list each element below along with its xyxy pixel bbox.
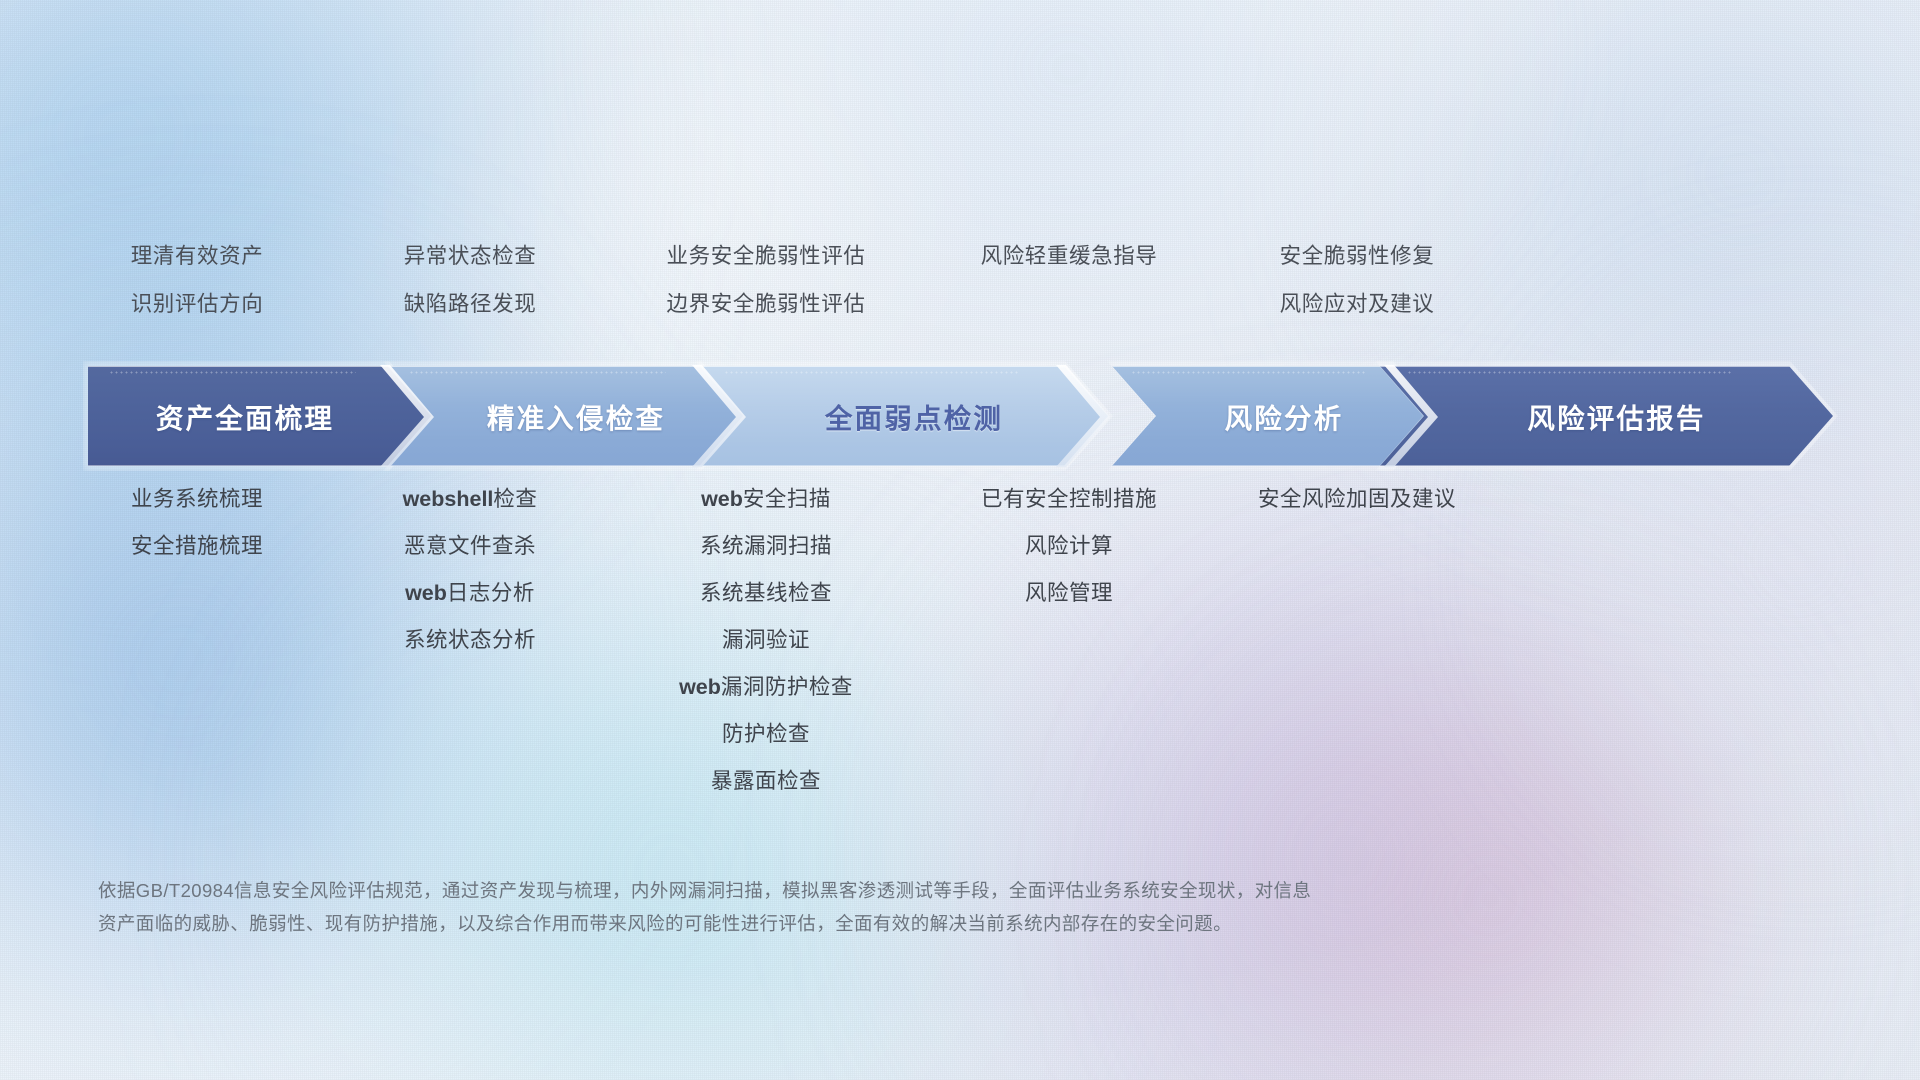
- bottom-item: 风险计算: [839, 523, 1299, 570]
- top-notes-row: 理清有效资产识别评估方向异常状态检查缺陷路径发现业务安全脆弱性评估边界安全脆弱性…: [0, 232, 1920, 342]
- stage-arrow-asset-inventory[interactable]: 资产全面梳理: [88, 366, 432, 466]
- top-note-item: 边界安全脆弱性评估: [536, 280, 996, 328]
- bottom-item: 漏洞验证: [536, 617, 996, 664]
- stage-arrow-banner: 资产全面梳理精准入侵检查全面弱点检测风险分析风险评估报告: [88, 366, 1833, 466]
- top-note-item: 风险应对及建议: [1127, 280, 1587, 328]
- footer-caption: 依据GB/T20984信息安全风险评估规范，通过资产发现与梳理，内外网漏洞扫描，…: [98, 874, 1538, 940]
- stage-title-intrusion-check: 精准入侵检查: [388, 366, 744, 466]
- bottom-item: 安全风险加固及建议: [1127, 476, 1587, 523]
- footer-caption-line-1: 依据GB/T20984信息安全风险评估规范，通过资产发现与梳理，内外网漏洞扫描，…: [98, 874, 1538, 907]
- bottom-item: web漏洞防护检查: [536, 664, 996, 711]
- top-notes-risk-report: 安全脆弱性修复风险应对及建议: [1127, 232, 1587, 328]
- bottom-item: 防护检查: [536, 711, 996, 758]
- process-diagram: 理清有效资产识别评估方向异常状态检查缺陷路径发现业务安全脆弱性评估边界安全脆弱性…: [0, 0, 1920, 1080]
- bottom-items-risk-report: 安全风险加固及建议: [1127, 476, 1587, 523]
- bottom-item: 风险管理: [839, 570, 1299, 617]
- stage-arrow-weakness-detection[interactable]: 全面弱点检测: [700, 366, 1108, 466]
- top-note-item: 安全脆弱性修复: [1127, 232, 1587, 280]
- stage-title-asset-inventory: 资产全面梳理: [88, 366, 432, 466]
- bottom-item: 暴露面检查: [536, 758, 996, 805]
- stage-arrow-risk-report[interactable]: 风险评估报告: [1380, 366, 1833, 466]
- stage-title-risk-report: 风险评估报告: [1380, 366, 1833, 466]
- stage-title-weakness-detection: 全面弱点检测: [700, 366, 1108, 466]
- stage-arrow-intrusion-check[interactable]: 精准入侵检查: [388, 366, 744, 466]
- footer-caption-line-2: 资产面临的威胁、脆弱性、现有防护措施，以及综合作用而带来风险的可能性进行评估，全…: [98, 907, 1538, 940]
